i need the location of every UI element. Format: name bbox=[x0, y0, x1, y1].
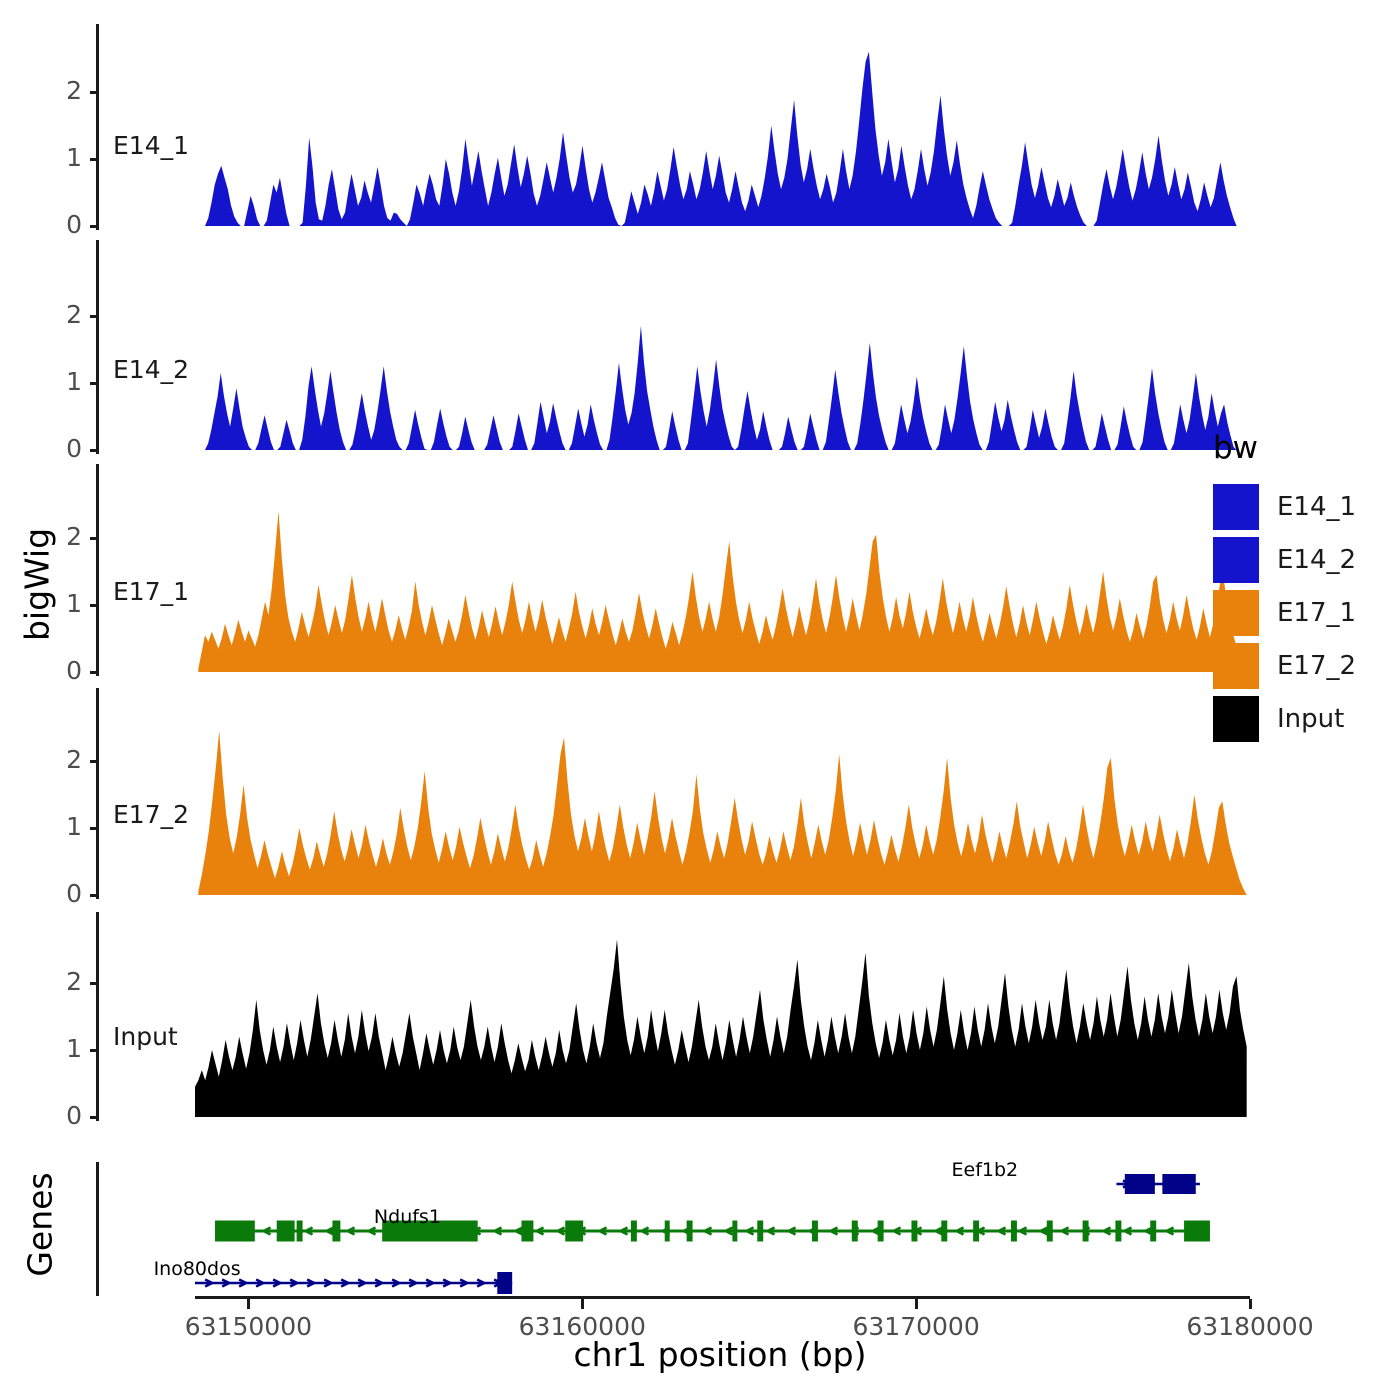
genes-panel-axis bbox=[96, 1162, 99, 1296]
y-tick bbox=[90, 537, 99, 540]
y-tick bbox=[90, 382, 99, 385]
y-tick-label: 2 bbox=[30, 76, 82, 105]
y-tick-label: 0 bbox=[30, 879, 82, 908]
y-tick bbox=[90, 158, 99, 161]
y-tick bbox=[90, 1049, 99, 1052]
y-axis-line bbox=[96, 24, 99, 230]
gene-ino80dos[interactable] bbox=[195, 1272, 512, 1294]
legend-item-input[interactable]: Input bbox=[1213, 696, 1344, 742]
legend-swatch-e17_2 bbox=[1213, 643, 1259, 689]
y-tick-label: 0 bbox=[30, 210, 82, 239]
panel-label-e14_2: E14_2 bbox=[113, 355, 189, 384]
exon-block bbox=[687, 1221, 693, 1242]
gene-ndufs1[interactable] bbox=[215, 1221, 1210, 1242]
panel-label-e14_1: E14_1 bbox=[113, 131, 189, 160]
coverage-area-e14_2 bbox=[195, 232, 1270, 456]
coverage-area-input bbox=[195, 904, 1270, 1123]
y-tick bbox=[90, 225, 99, 228]
exon-block bbox=[497, 1272, 512, 1294]
exon-block bbox=[732, 1221, 737, 1242]
gene-label-ino80dos: Ino80dos bbox=[154, 1258, 241, 1280]
exon-block bbox=[878, 1221, 884, 1242]
exon-block bbox=[332, 1221, 340, 1242]
y-axis-line bbox=[96, 912, 99, 1121]
exon-block bbox=[852, 1221, 858, 1242]
x-axis-line bbox=[195, 1296, 1250, 1299]
exon-block bbox=[941, 1221, 947, 1242]
y-tick bbox=[90, 760, 99, 763]
y-axis-title-genes: Genes bbox=[21, 1150, 60, 1300]
exon-block bbox=[1125, 1174, 1155, 1194]
y-tick bbox=[90, 894, 99, 897]
x-tick bbox=[1249, 1299, 1252, 1309]
exon-block bbox=[565, 1221, 583, 1242]
exon-block bbox=[812, 1221, 818, 1242]
exon-block bbox=[215, 1221, 255, 1242]
gene-label-ndufs1: Ndufs1 bbox=[374, 1206, 441, 1228]
y-tick-label: 2 bbox=[30, 967, 82, 996]
y-tick bbox=[90, 91, 99, 94]
legend-label: E17_1 bbox=[1277, 598, 1356, 628]
legend-swatch-e14_1 bbox=[1213, 484, 1259, 530]
exon-block bbox=[911, 1221, 917, 1242]
y-tick bbox=[90, 449, 99, 452]
exon-block bbox=[1162, 1174, 1195, 1194]
exon-block bbox=[277, 1221, 295, 1242]
y-tick-label: 0 bbox=[30, 434, 82, 463]
legend-label: E14_1 bbox=[1277, 492, 1356, 522]
legend-item-e14_2[interactable]: E14_2 bbox=[1213, 537, 1356, 583]
panel-label-input: Input bbox=[113, 1022, 178, 1051]
legend-item-e17_2[interactable]: E17_2 bbox=[1213, 643, 1356, 689]
exon-block bbox=[1150, 1221, 1156, 1242]
exon-block bbox=[521, 1221, 533, 1242]
y-tick bbox=[90, 604, 99, 607]
y-tick-label: 1 bbox=[30, 1034, 82, 1063]
panel-label-e17_2: E17_2 bbox=[113, 800, 189, 829]
coverage-area-e14_1 bbox=[195, 16, 1270, 232]
panel-label-e17_1: E17_1 bbox=[113, 577, 189, 606]
coverage-area-e17_1 bbox=[195, 456, 1270, 678]
x-tick-label: 63180000 bbox=[1150, 1312, 1350, 1341]
legend-title: bw bbox=[1213, 430, 1258, 466]
gene-label-eef1b2: Eef1b2 bbox=[952, 1159, 1019, 1181]
y-tick-label: 2 bbox=[30, 300, 82, 329]
y-tick bbox=[90, 671, 99, 674]
legend-swatch-input bbox=[1213, 696, 1259, 742]
legend-item-e17_1[interactable]: E17_1 bbox=[1213, 590, 1356, 636]
exon-block bbox=[297, 1221, 303, 1242]
y-tick-label: 2 bbox=[30, 522, 82, 551]
y-tick-label: 0 bbox=[30, 1101, 82, 1130]
exon-block bbox=[1115, 1221, 1121, 1242]
exon-block bbox=[1047, 1221, 1053, 1242]
y-tick bbox=[90, 982, 99, 985]
y-tick-label: 1 bbox=[30, 589, 82, 618]
exon-block bbox=[757, 1221, 763, 1242]
gene-eef1b2[interactable] bbox=[1116, 1174, 1199, 1194]
legend-item-e14_1[interactable]: E14_1 bbox=[1213, 484, 1356, 530]
legend-label: E17_2 bbox=[1277, 651, 1356, 681]
exon-block bbox=[973, 1221, 979, 1242]
exon-block bbox=[1011, 1221, 1017, 1242]
y-tick-label: 2 bbox=[30, 745, 82, 774]
x-tick bbox=[581, 1299, 584, 1309]
y-axis-line bbox=[96, 240, 99, 454]
y-axis-line bbox=[96, 464, 99, 676]
y-axis-line bbox=[96, 688, 99, 899]
figure-canvas: bigWig Genes 012E14_1012E14_2012E17_1012… bbox=[0, 0, 1400, 1400]
legend-label: Input bbox=[1277, 704, 1344, 734]
y-tick bbox=[90, 827, 99, 830]
exon-block bbox=[665, 1221, 670, 1242]
x-axis-title: chr1 position (bp) bbox=[300, 1335, 1140, 1374]
y-tick bbox=[90, 315, 99, 318]
exon-block bbox=[631, 1221, 637, 1242]
y-tick bbox=[90, 1116, 99, 1119]
legend-swatch-e14_2 bbox=[1213, 537, 1259, 583]
exon-block bbox=[1184, 1221, 1210, 1242]
genes-track-area bbox=[195, 1150, 1250, 1300]
coverage-area-e17_2 bbox=[195, 680, 1270, 901]
legend-swatch-e17_1 bbox=[1213, 590, 1259, 636]
x-tick bbox=[247, 1299, 250, 1309]
y-tick-label: 1 bbox=[30, 367, 82, 396]
x-tick bbox=[915, 1299, 918, 1309]
exon-block bbox=[1083, 1221, 1089, 1242]
y-tick-label: 0 bbox=[30, 656, 82, 685]
y-tick-label: 1 bbox=[30, 143, 82, 172]
y-tick-label: 1 bbox=[30, 812, 82, 841]
legend-label: E14_2 bbox=[1277, 545, 1356, 575]
